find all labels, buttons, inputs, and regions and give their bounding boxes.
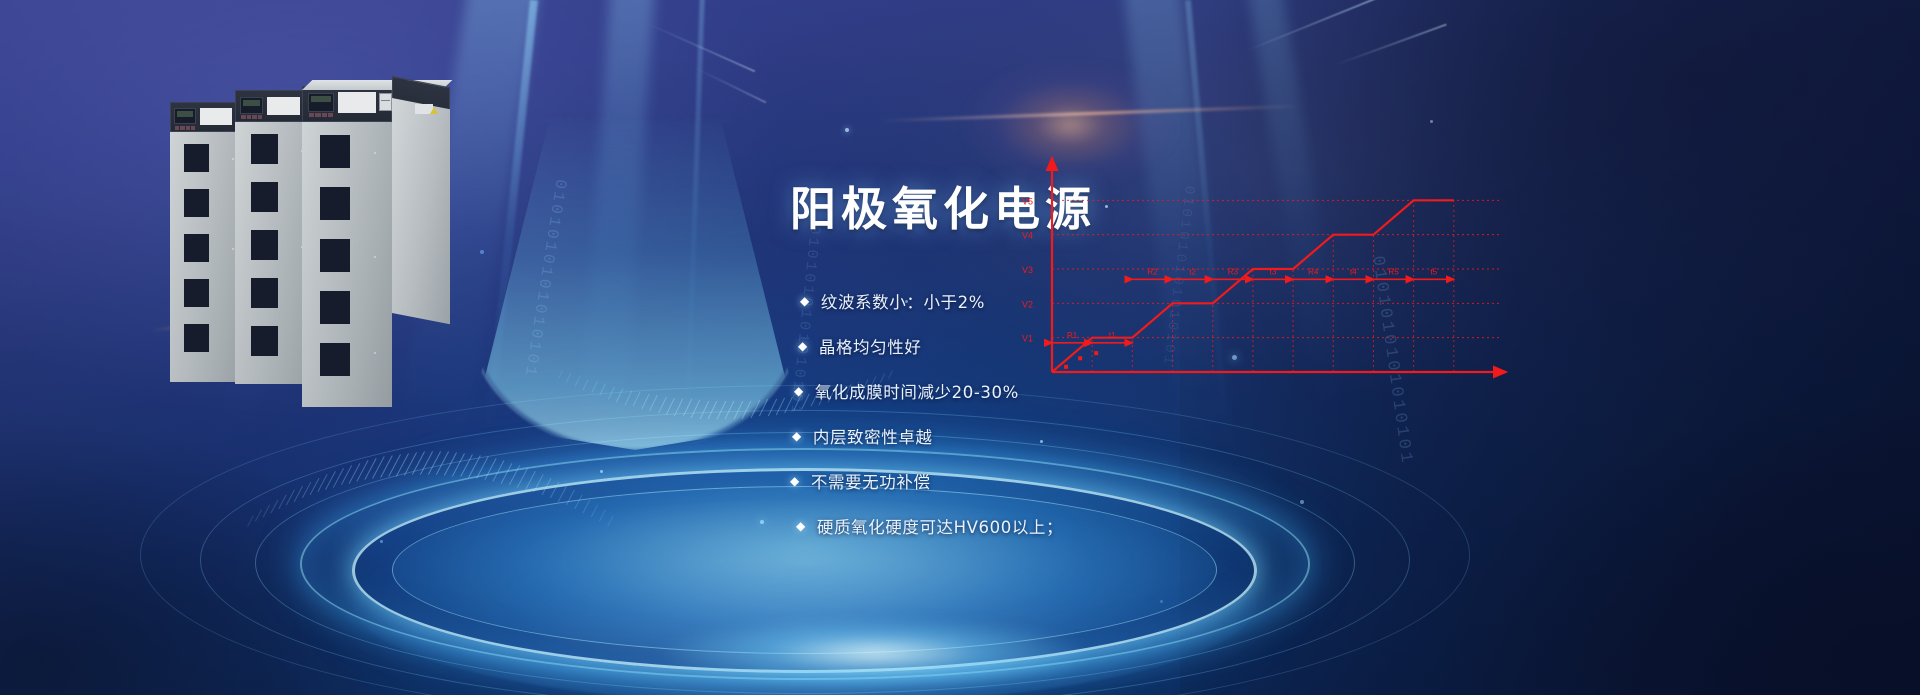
list-item-label: 氧化成膜时间减少20-30% bbox=[815, 379, 1019, 403]
particle bbox=[600, 470, 603, 473]
list-item: ◆ 纹波系数小：小于2% bbox=[800, 278, 1230, 323]
meteor-streak bbox=[1333, 24, 1446, 67]
list-item-label: 硬质氧化硬度可达HV600以上； bbox=[817, 514, 1063, 538]
diamond-bullet-icon: ◆ bbox=[798, 340, 808, 352]
particle bbox=[1105, 205, 1108, 208]
warning-triangle-icon bbox=[430, 107, 438, 114]
list-item: ◆ 内层致密性卓越 bbox=[792, 413, 1230, 458]
list-item-label: 晶格均匀性好 bbox=[819, 334, 922, 358]
diamond-bullet-icon: ◆ bbox=[796, 520, 806, 532]
list-item: ◆ 晶格均匀性好 bbox=[798, 323, 1230, 368]
light-ray bbox=[1245, 0, 1352, 437]
diamond-bullet-icon: ◆ bbox=[790, 475, 800, 487]
diamond-bullet-icon: ◆ bbox=[800, 295, 810, 307]
list-item: ◆ 氧化成膜时间减少20-30% bbox=[794, 368, 1230, 413]
light-column bbox=[470, 120, 800, 450]
list-item-label: 内层致密性卓越 bbox=[813, 424, 933, 448]
lens-flare bbox=[960, 60, 1180, 190]
chart-segment-label: R3 bbox=[1228, 267, 1239, 276]
particle bbox=[760, 520, 764, 524]
podium-hatch-arc bbox=[250, 450, 610, 680]
list-item-label: 纹波系数小：小于2% bbox=[821, 289, 985, 313]
chart-segment-label: t3 bbox=[1270, 267, 1277, 276]
diamond-bullet-icon: ◆ bbox=[794, 385, 804, 397]
particle bbox=[845, 128, 849, 132]
particle bbox=[1160, 600, 1163, 603]
podium-hotspot bbox=[660, 618, 1090, 688]
particle bbox=[1232, 355, 1237, 360]
light-ray bbox=[577, 0, 656, 470]
list-item: ◆ 硬质氧化硬度可达HV600以上； bbox=[796, 503, 1230, 548]
chart-segment-label: t5 bbox=[1430, 267, 1437, 276]
light-ray bbox=[684, 0, 705, 460]
binary-stream: 0101010101010101 bbox=[520, 178, 569, 380]
chart-y-tick-label: V3 bbox=[1022, 265, 1033, 275]
chart-segment-label: R2 bbox=[1147, 267, 1158, 276]
dark-gradient-band bbox=[1180, 0, 1920, 695]
meteor-streak bbox=[694, 67, 767, 104]
power-cabinet-group bbox=[170, 80, 490, 380]
chart-segment-label: t4 bbox=[1350, 267, 1357, 276]
particle bbox=[1430, 120, 1433, 123]
particle bbox=[380, 540, 383, 543]
chart-segment-label: R4 bbox=[1308, 267, 1319, 276]
light-column-edge bbox=[468, 118, 802, 452]
particle bbox=[1300, 500, 1304, 504]
flare-streak bbox=[880, 105, 1300, 123]
list-item: ◆ 不需要无功补偿 bbox=[790, 458, 1230, 503]
binary-stream: 0101010101010101 bbox=[1367, 255, 1415, 467]
meteor-streak bbox=[645, 22, 755, 73]
page-title: 阳极氧化电源 bbox=[790, 173, 1096, 239]
chart-segment-label: R5 bbox=[1388, 267, 1399, 276]
banner-stage: 0101010101010101 0101010101010101 010101… bbox=[0, 0, 1920, 695]
chart-segment-label: t2 bbox=[1189, 267, 1196, 276]
light-ray bbox=[485, 0, 538, 428]
list-item-label: 不需要无功补偿 bbox=[811, 469, 931, 493]
diamond-bullet-icon: ◆ bbox=[792, 430, 802, 442]
meteor-streak bbox=[1246, 0, 1404, 52]
feature-list: ◆ 纹波系数小：小于2% ◆ 晶格均匀性好 ◆ 氧化成膜时间减少20-30% ◆… bbox=[800, 278, 1230, 548]
